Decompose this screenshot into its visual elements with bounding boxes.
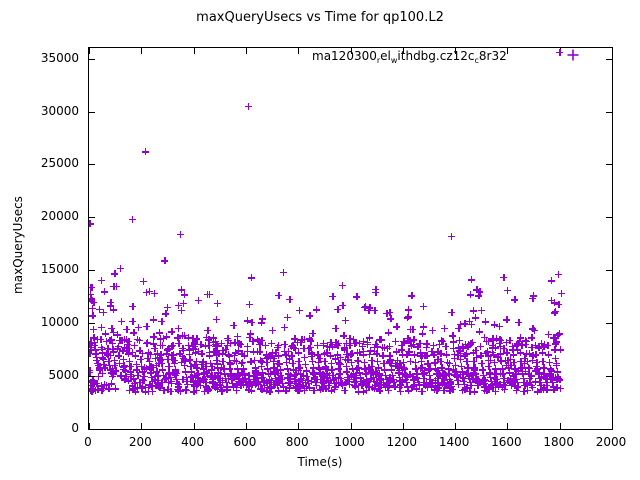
data-point xyxy=(285,375,292,382)
data-point xyxy=(141,364,148,371)
data-point xyxy=(494,353,501,360)
data-point xyxy=(343,363,350,370)
data-point xyxy=(213,352,220,359)
data-point xyxy=(396,374,403,381)
data-point xyxy=(497,337,504,344)
data-point xyxy=(419,330,426,337)
data-point xyxy=(392,338,399,345)
data-point xyxy=(91,342,98,349)
data-point xyxy=(146,381,153,388)
data-point xyxy=(195,348,202,355)
data-point xyxy=(288,343,295,350)
data-point xyxy=(548,277,555,284)
data-point xyxy=(124,341,131,348)
data-point xyxy=(142,148,149,155)
data-point xyxy=(405,313,412,320)
data-point xyxy=(226,359,233,366)
data-point xyxy=(413,370,420,377)
y-axis-tick xyxy=(89,164,95,165)
data-point xyxy=(267,383,274,390)
data-point xyxy=(480,378,487,385)
data-point xyxy=(554,332,561,339)
legend-series-label: ma120300relwithdbg.cz12cc8r32 xyxy=(312,49,507,65)
data-point xyxy=(245,103,252,110)
data-point xyxy=(353,365,360,372)
data-point xyxy=(253,378,260,385)
data-point xyxy=(251,357,258,364)
data-point xyxy=(344,378,351,385)
data-point xyxy=(374,343,381,350)
data-point xyxy=(469,376,476,383)
data-point xyxy=(360,348,367,355)
data-point xyxy=(115,343,122,350)
data-point xyxy=(414,375,421,382)
data-point xyxy=(190,377,197,384)
data-point xyxy=(98,344,105,351)
data-point xyxy=(398,346,405,353)
data-point xyxy=(116,360,123,367)
data-point xyxy=(185,342,192,349)
data-point xyxy=(322,365,329,372)
data-point xyxy=(501,379,508,386)
data-point xyxy=(529,325,536,332)
data-point xyxy=(517,349,524,356)
data-point xyxy=(491,321,498,328)
data-point xyxy=(273,379,280,386)
data-point xyxy=(517,334,524,341)
data-point xyxy=(412,359,419,366)
data-point xyxy=(422,382,429,389)
data-point xyxy=(364,379,371,386)
data-point xyxy=(494,379,501,386)
data-point xyxy=(223,386,230,393)
data-point xyxy=(528,334,535,341)
data-point xyxy=(321,358,328,365)
data-point xyxy=(153,368,160,375)
data-point xyxy=(282,387,289,394)
data-point xyxy=(90,299,97,306)
data-point xyxy=(532,367,539,374)
data-point xyxy=(360,338,367,345)
y-axis-tick xyxy=(606,112,612,113)
data-point xyxy=(515,367,522,374)
data-point xyxy=(386,358,393,365)
data-point xyxy=(242,379,249,386)
data-point xyxy=(165,370,172,377)
data-point xyxy=(480,372,487,379)
data-point xyxy=(174,380,181,387)
data-point xyxy=(157,335,164,342)
data-point xyxy=(189,335,196,342)
data-point xyxy=(218,388,225,395)
data-point xyxy=(348,350,355,357)
data-point xyxy=(407,326,414,333)
data-point xyxy=(248,274,255,281)
data-point xyxy=(301,336,308,343)
data-point xyxy=(418,388,425,395)
data-point xyxy=(367,375,374,382)
data-point xyxy=(544,342,551,349)
data-point xyxy=(92,387,99,394)
data-point xyxy=(477,343,484,350)
data-point xyxy=(466,375,473,382)
data-point xyxy=(164,386,171,393)
data-point xyxy=(511,365,518,372)
data-point xyxy=(270,358,277,365)
data-point xyxy=(404,335,411,342)
data-point xyxy=(173,370,180,377)
data-point xyxy=(139,350,146,357)
data-point xyxy=(472,376,479,383)
data-point xyxy=(190,381,197,388)
data-point xyxy=(321,378,328,385)
data-point xyxy=(338,380,345,387)
data-point xyxy=(320,380,327,387)
data-point xyxy=(319,383,326,390)
data-point xyxy=(369,369,376,376)
data-point xyxy=(361,359,368,366)
x-axis-tick xyxy=(298,423,299,429)
data-point xyxy=(529,384,536,391)
data-point xyxy=(469,339,476,346)
data-point xyxy=(308,351,315,358)
data-point xyxy=(197,382,204,389)
data-point xyxy=(387,315,394,322)
data-point xyxy=(375,383,382,390)
data-point xyxy=(230,383,237,390)
data-point xyxy=(248,319,255,326)
data-point xyxy=(109,340,116,347)
data-point xyxy=(410,373,417,380)
data-point xyxy=(140,373,147,380)
data-point xyxy=(200,375,207,382)
data-point xyxy=(175,383,182,390)
data-point xyxy=(211,373,218,380)
data-point xyxy=(332,325,339,332)
data-point xyxy=(475,379,482,386)
data-point xyxy=(482,377,489,384)
data-point xyxy=(419,364,426,371)
data-point xyxy=(241,352,248,359)
data-point xyxy=(199,359,206,366)
data-point xyxy=(386,377,393,384)
data-point xyxy=(507,379,514,386)
data-point xyxy=(283,387,290,394)
data-point xyxy=(282,351,289,358)
data-point xyxy=(517,358,524,365)
data-point xyxy=(167,374,174,381)
data-point xyxy=(495,383,502,390)
data-point xyxy=(235,375,242,382)
data-point xyxy=(481,380,488,387)
data-point xyxy=(324,343,331,350)
data-point xyxy=(533,363,540,370)
data-point xyxy=(150,340,157,347)
data-point xyxy=(376,370,383,377)
data-point xyxy=(332,355,339,362)
data-point xyxy=(309,330,316,337)
data-point xyxy=(151,345,158,352)
data-point xyxy=(496,323,503,330)
data-point xyxy=(177,231,184,238)
data-point xyxy=(245,372,252,379)
x-tick-label: 200 xyxy=(129,436,152,448)
data-point xyxy=(252,369,259,376)
data-point xyxy=(208,372,215,379)
data-point xyxy=(494,353,501,360)
data-point xyxy=(241,375,248,382)
data-point xyxy=(440,375,447,382)
data-point xyxy=(489,335,496,342)
data-point xyxy=(172,368,179,375)
data-point xyxy=(384,379,391,386)
data-point xyxy=(497,370,504,377)
data-point xyxy=(461,352,468,359)
data-point xyxy=(337,361,344,368)
data-point xyxy=(230,322,237,329)
data-point xyxy=(382,384,389,391)
data-point xyxy=(439,338,446,345)
data-point xyxy=(253,374,260,381)
data-point xyxy=(345,378,352,385)
data-point xyxy=(217,382,224,389)
data-point xyxy=(88,295,95,302)
data-point xyxy=(125,345,132,352)
data-point xyxy=(431,359,438,366)
data-point xyxy=(249,338,256,345)
data-point xyxy=(417,365,424,372)
data-point xyxy=(187,374,194,381)
data-point xyxy=(434,379,441,386)
data-point xyxy=(298,336,305,343)
data-point xyxy=(463,358,470,365)
data-point xyxy=(446,376,453,383)
data-point xyxy=(318,379,325,386)
data-point xyxy=(101,381,108,388)
data-point xyxy=(466,318,473,325)
data-point xyxy=(366,304,373,311)
data-point xyxy=(403,351,410,358)
data-point xyxy=(183,378,190,385)
data-point xyxy=(390,376,397,383)
data-point xyxy=(457,356,464,363)
data-point xyxy=(131,380,138,387)
data-point xyxy=(317,376,324,383)
data-point xyxy=(333,379,340,386)
data-point xyxy=(306,335,313,342)
data-point xyxy=(154,373,161,380)
data-point xyxy=(536,375,543,382)
data-point xyxy=(107,352,114,359)
data-point xyxy=(123,336,130,343)
data-point xyxy=(472,377,479,384)
data-point xyxy=(534,365,541,372)
data-point xyxy=(386,309,393,316)
data-point xyxy=(295,364,302,371)
data-point xyxy=(391,383,398,390)
data-point xyxy=(122,367,129,374)
data-point xyxy=(175,387,182,394)
data-point xyxy=(363,387,370,394)
data-point xyxy=(152,382,159,389)
data-point xyxy=(553,338,560,345)
data-point xyxy=(96,364,103,371)
data-point xyxy=(491,374,498,381)
data-point xyxy=(254,336,261,343)
data-point xyxy=(94,360,101,367)
data-point xyxy=(411,351,418,358)
data-point xyxy=(524,358,531,365)
data-point xyxy=(465,341,472,348)
data-point xyxy=(160,335,167,342)
data-point xyxy=(192,374,199,381)
data-point xyxy=(355,364,362,371)
data-point xyxy=(225,375,232,382)
data-point xyxy=(335,359,342,366)
data-point xyxy=(149,364,156,371)
data-point xyxy=(244,317,251,324)
data-point xyxy=(488,381,495,388)
data-point xyxy=(183,374,190,381)
data-point xyxy=(335,374,342,381)
data-point xyxy=(558,290,565,297)
data-point xyxy=(455,325,462,332)
data-point xyxy=(517,365,524,372)
data-point xyxy=(89,312,96,319)
data-point xyxy=(200,365,207,372)
data-point xyxy=(485,386,492,393)
data-point xyxy=(237,341,244,348)
data-point xyxy=(330,376,337,383)
data-point xyxy=(88,284,94,291)
data-point xyxy=(238,369,245,376)
data-point xyxy=(189,374,196,381)
x-tick-label: 2000 xyxy=(596,436,627,448)
data-point xyxy=(285,348,292,355)
data-point xyxy=(441,379,448,386)
data-point xyxy=(462,341,469,348)
data-point xyxy=(399,378,406,385)
data-point xyxy=(277,372,284,379)
data-point xyxy=(314,342,321,349)
data-point xyxy=(321,350,328,357)
data-point xyxy=(164,356,171,363)
data-point xyxy=(225,337,232,344)
x-axis-tick xyxy=(194,423,195,429)
data-point xyxy=(168,378,175,385)
data-point xyxy=(358,380,365,387)
data-point xyxy=(146,358,153,365)
data-point xyxy=(543,379,550,386)
data-point xyxy=(193,387,200,394)
data-point xyxy=(547,373,554,380)
data-point xyxy=(311,375,318,382)
data-point xyxy=(203,370,210,377)
data-point xyxy=(170,351,177,358)
data-point xyxy=(148,383,155,390)
data-point xyxy=(374,358,381,365)
data-point xyxy=(130,375,137,382)
x-tick-label: 1200 xyxy=(387,436,418,448)
data-point xyxy=(251,376,258,383)
data-point xyxy=(91,379,98,386)
data-point xyxy=(297,370,304,377)
data-point xyxy=(474,379,481,386)
data-point xyxy=(164,304,171,311)
data-point xyxy=(504,287,511,294)
data-point xyxy=(200,377,207,384)
data-point xyxy=(295,349,302,356)
data-point xyxy=(463,350,470,357)
data-point xyxy=(548,367,555,374)
data-point xyxy=(149,388,156,395)
data-point xyxy=(510,359,517,366)
data-point xyxy=(388,366,395,373)
data-point xyxy=(539,349,546,356)
data-point xyxy=(344,374,351,381)
data-point xyxy=(204,327,211,334)
data-point xyxy=(152,373,159,380)
data-point xyxy=(315,359,322,366)
data-point xyxy=(159,342,166,349)
data-point xyxy=(329,293,336,300)
data-point xyxy=(245,103,252,110)
data-point xyxy=(327,339,334,346)
data-point xyxy=(219,377,226,384)
data-point xyxy=(549,374,556,381)
data-point xyxy=(553,360,560,367)
data-point xyxy=(431,386,438,393)
data-point xyxy=(206,349,213,356)
data-point xyxy=(127,368,134,375)
data-point xyxy=(334,342,341,349)
y-axis-tick xyxy=(606,164,612,165)
data-point xyxy=(528,382,535,389)
data-point xyxy=(537,382,544,389)
data-point xyxy=(450,366,457,373)
data-point xyxy=(362,370,369,377)
data-point xyxy=(402,376,409,383)
data-point xyxy=(440,387,447,394)
data-point xyxy=(353,293,360,300)
x-tick-label: 400 xyxy=(181,436,204,448)
data-point xyxy=(343,351,350,358)
data-point xyxy=(418,364,425,371)
data-point xyxy=(555,301,562,308)
data-point xyxy=(342,356,349,363)
data-point xyxy=(456,347,463,354)
data-point xyxy=(178,307,185,314)
data-point xyxy=(396,384,403,391)
data-point xyxy=(420,375,427,382)
data-point xyxy=(500,345,507,352)
data-point xyxy=(523,350,530,357)
data-point xyxy=(554,374,561,381)
data-point xyxy=(108,336,115,343)
data-point xyxy=(528,344,535,351)
data-point xyxy=(319,385,326,392)
data-point xyxy=(479,367,486,374)
data-point xyxy=(489,349,496,356)
data-point xyxy=(297,376,304,383)
data-point xyxy=(500,274,507,281)
data-point xyxy=(246,334,253,341)
data-point xyxy=(485,352,492,359)
data-point xyxy=(194,374,201,381)
data-point xyxy=(307,344,314,351)
data-point xyxy=(212,348,219,355)
data-point xyxy=(256,348,263,355)
